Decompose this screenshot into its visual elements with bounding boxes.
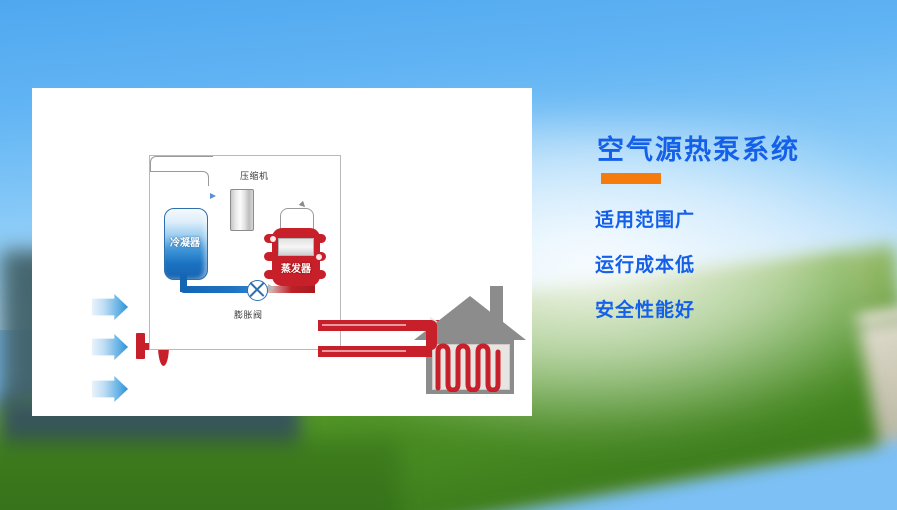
diagram-card: 压缩机 冷凝器 膨胀阀 <box>32 88 532 416</box>
feature-list: 适用范围广 运行成本低 安全性能好 <box>595 205 695 340</box>
title-underline-bar <box>601 173 661 184</box>
slide-canvas: 压缩机 冷凝器 膨胀阀 <box>0 0 897 510</box>
radiant-floor-coil-icon <box>432 342 512 392</box>
liquid-line-horizontal <box>186 286 254 293</box>
page-title: 空气源热泵系统 <box>597 128 800 167</box>
air-flow-arrow-icon <box>92 334 128 360</box>
list-item: 安全性能好 <box>595 295 695 322</box>
refrigeration-cycle-frame: 压缩机 冷凝器 膨胀阀 <box>149 155 341 350</box>
condenser-label: 冷凝器 <box>164 234 206 249</box>
house-icon <box>414 286 526 394</box>
suction-pipe-left <box>150 156 213 171</box>
left-grass-layer <box>0 440 400 510</box>
flow-arrow-icon <box>210 193 216 199</box>
evaporator-label: 蒸发器 <box>270 260 322 275</box>
expansion-valve-icon <box>247 280 268 301</box>
air-flow-arrow-icon <box>92 294 128 320</box>
compressor-label: 压缩机 <box>240 169 269 182</box>
discharge-pipe-right <box>150 171 209 186</box>
compressor-icon <box>230 189 254 231</box>
coil-joint <box>270 236 276 242</box>
evaporator-plate <box>278 238 314 256</box>
list-item: 运行成本低 <box>595 250 695 277</box>
list-item: 适用范围广 <box>595 205 695 232</box>
air-flow-arrow-icon <box>92 376 128 402</box>
expansion-valve-label: 膨胀阀 <box>234 308 263 321</box>
evaporator-icon: 蒸发器 <box>268 208 324 290</box>
